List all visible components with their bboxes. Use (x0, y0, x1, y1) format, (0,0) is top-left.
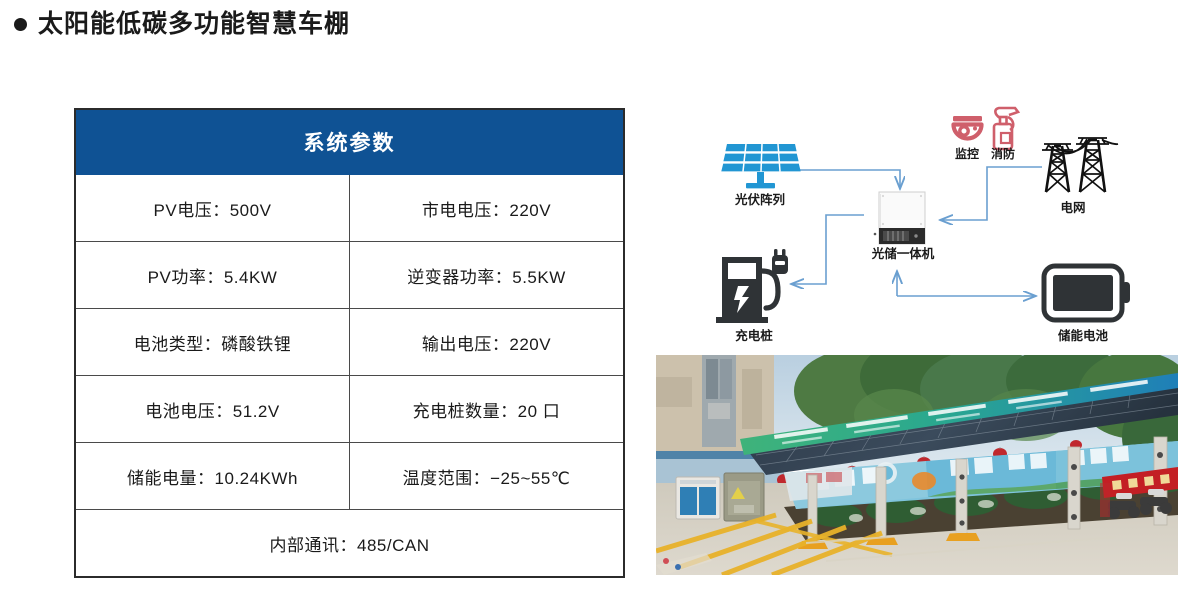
fire-safety-label: 消防 (991, 146, 1015, 161)
table-row: PV电压：500V 市电电压：220V (75, 175, 624, 242)
table-cell-grid-voltage: 市电电压：220V (350, 175, 625, 242)
table-cell-battery-type: 电池类型：磷酸铁锂 (75, 309, 350, 376)
table-header-title: 系统参数 (75, 109, 624, 175)
table-row: 电池电压：51.2V 充电桩数量：20 口 (75, 376, 624, 443)
battery-storage-label: 储能电池 (1057, 328, 1109, 343)
inverter-cabinet-icon (874, 192, 925, 244)
table-header-row: 系统参数 (75, 109, 624, 175)
table-cell-storage-capacity: 储能电量：10.24KWh (75, 443, 350, 510)
system-architecture-diagram: 光伏阵列 监控 消防 (650, 100, 1200, 350)
table-cell-internal-comm: 内部通讯：485/CAN (75, 510, 624, 578)
battery-icon (1044, 266, 1130, 320)
table-row: 储能电量：10.24KWh 温度范围：−25~55℃ (75, 443, 624, 510)
dome-camera-icon (953, 116, 982, 139)
page-title: 太阳能低碳多功能智慧车棚 (14, 12, 350, 37)
table-row: 电池类型：磷酸铁锂 输出电压：220V (75, 309, 624, 376)
table-footer-row: 内部通讯：485/CAN (75, 510, 624, 578)
power-grid-label: 电网 (1060, 200, 1085, 215)
flow-pv-to-inverter (774, 170, 900, 188)
charging-pile-label: 充电桩 (735, 328, 773, 343)
flow-grid-to-inverter (941, 167, 1042, 220)
page-title-text: 太阳能低碳多功能智慧车棚 (38, 12, 350, 37)
table-cell-battery-voltage: 电池电压：51.2V (75, 376, 350, 443)
table-cell-pv-voltage: PV电压：500V (75, 175, 350, 242)
pv-array-icon (718, 144, 804, 188)
bullet-icon (14, 18, 27, 31)
fire-extinguisher-icon (994, 108, 1018, 149)
pv-array-label: 光伏阵列 (734, 192, 785, 207)
carport-photo (656, 355, 1178, 575)
flow-inverter-to-charger (792, 215, 864, 284)
table-cell-output-voltage: 输出电压：220V (350, 309, 625, 376)
system-parameters-table: 系统参数 PV电压：500V 市电电压：220V PV功率：5.4KW 逆变器功… (74, 108, 625, 578)
table-cell-temperature-range: 温度范围：−25~55℃ (350, 443, 625, 510)
table-cell-inverter-power: 逆变器功率：5.5KW (350, 242, 625, 309)
transmission-tower-icon (1042, 138, 1118, 192)
table-cell-pv-power: PV功率：5.4KW (75, 242, 350, 309)
table-cell-charger-count: 充电桩数量：20 口 (350, 376, 625, 443)
ev-charger-icon (716, 249, 788, 323)
table-row: PV功率：5.4KW 逆变器功率：5.5KW (75, 242, 624, 309)
hybrid-inverter-label: 光储一体机 (871, 246, 935, 261)
monitoring-label: 监控 (955, 146, 979, 161)
